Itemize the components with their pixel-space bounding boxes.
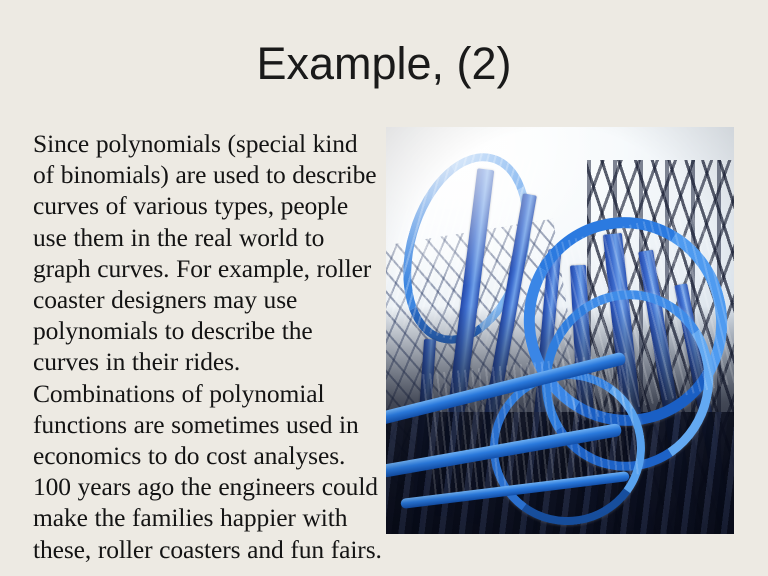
slide: Example, (2) Since polynomials (special … (0, 0, 768, 576)
image-canvas (386, 127, 734, 534)
roller-coaster-image (386, 127, 734, 534)
image-vignette (386, 127, 734, 534)
body-paragraph: Since polynomials (special kind of binom… (33, 128, 385, 565)
page-title: Example, (2) (60, 38, 708, 90)
